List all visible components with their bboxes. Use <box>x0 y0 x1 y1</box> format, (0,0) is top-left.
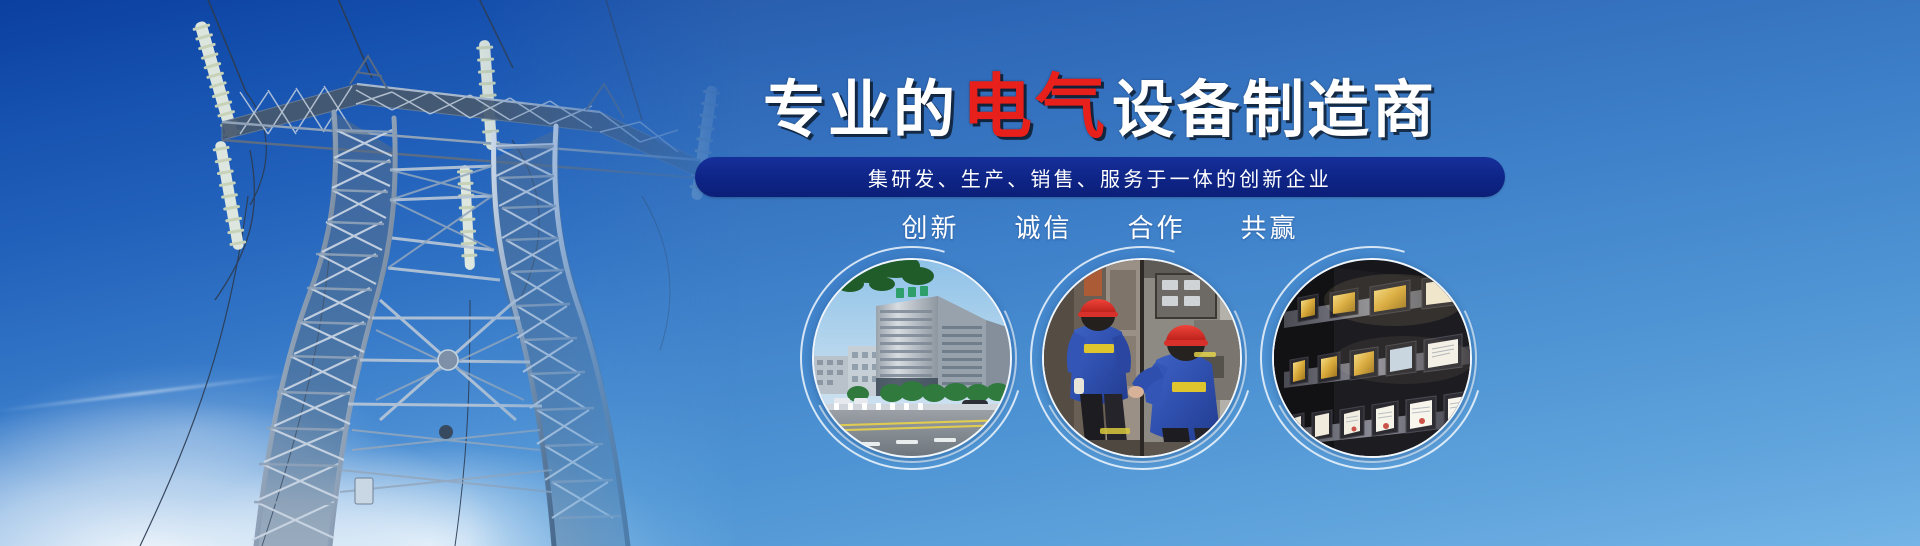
workers-installation-photo <box>1042 258 1242 458</box>
circle-photo-certificates <box>1272 258 1472 458</box>
hero-banner: 专业的电气设备制造商 集研发、生产、销售、服务于一体的创新企业 创新 诚信 合作… <box>0 0 1920 546</box>
transmission-tower-photo <box>0 0 760 546</box>
circle-photo-building <box>812 258 1012 458</box>
circle-photo-workers <box>1042 258 1242 458</box>
keyword-integrity: 诚信 <box>1014 208 1072 245</box>
company-building-photo <box>812 258 1012 458</box>
keyword-list: 创新 诚信 合作 共赢 <box>695 208 1505 245</box>
keyword-win-win: 共赢 <box>1241 208 1299 245</box>
subtitle-text: 集研发、生产、销售、服务于一体的创新企业 <box>868 163 1332 192</box>
headline-highlight: 电气 <box>962 72 1108 142</box>
page-title: 专业的电气设备制造商 <box>660 72 1540 142</box>
photo-circle-group <box>660 258 1540 458</box>
subtitle-pill: 集研发、生产、销售、服务于一体的创新企业 <box>695 157 1505 197</box>
keyword-innovation: 创新 <box>901 208 959 245</box>
certificates-wall-photo <box>1272 258 1472 458</box>
pylon-structure <box>0 0 760 546</box>
banner-content: 专业的电气设备制造商 集研发、生产、销售、服务于一体的创新企业 创新 诚信 合作… <box>660 0 1920 546</box>
keyword-cooperation: 合作 <box>1128 208 1186 245</box>
headline-part-two: 设备制造商 <box>1112 80 1437 142</box>
headline-part-one: 专业的 <box>763 80 958 142</box>
